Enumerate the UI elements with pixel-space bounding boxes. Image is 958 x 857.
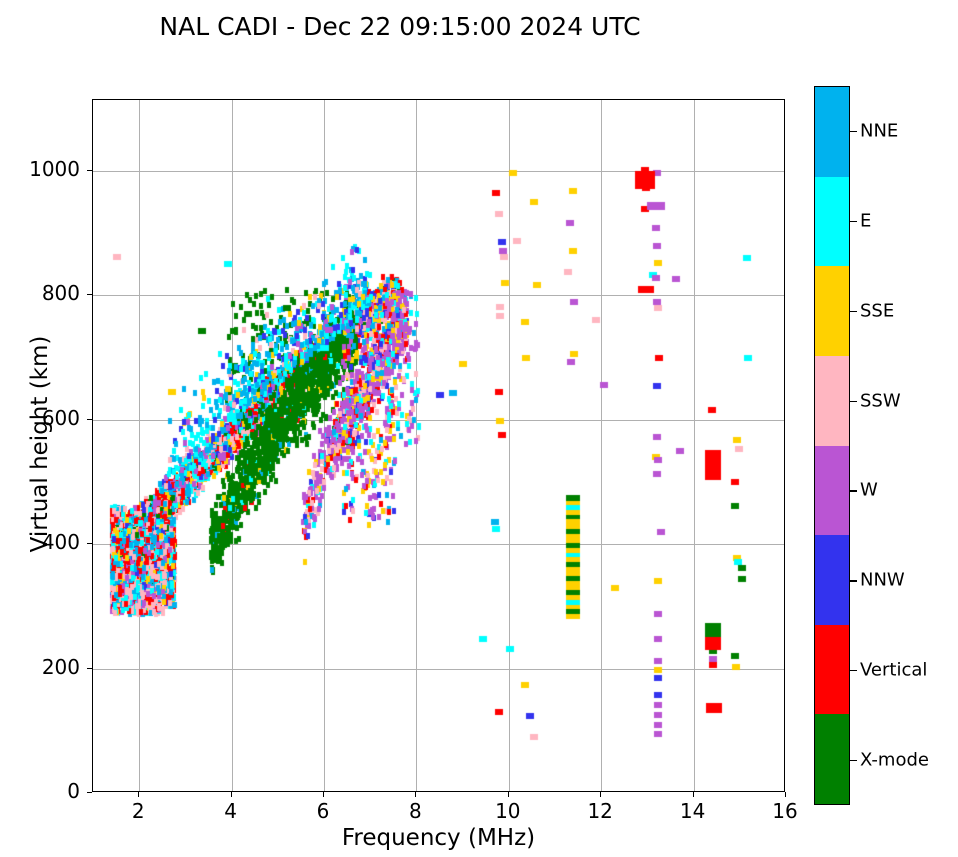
x-axis-tick [508,792,509,797]
colorbar-segment-vertical[interactable] [815,625,849,715]
x-axis-tick-label: 8 [385,799,445,823]
azimuth-colorbar[interactable] [814,86,850,805]
x-axis-tick [693,792,694,797]
colorbar-label-ssw: SSW [860,390,901,411]
colorbar-label-e: E [860,210,871,231]
y-axis-tick [87,294,92,295]
y-axis-tick-label: 0 [0,779,80,803]
y-axis-tick [87,668,92,669]
colorbar-label-w: W [860,480,878,501]
colorbar-tick [850,580,857,581]
colorbar-label-nnw: NNW [860,570,905,591]
colorbar-segment-x-mode[interactable] [815,714,849,804]
x-axis-tick-label: 12 [570,799,630,823]
colorbar-label-sse: SSE [860,300,894,321]
colorbar-label-nne: NNE [860,120,898,141]
y-axis-tick-label: 1000 [0,157,80,181]
data-points-layer [93,100,784,791]
colorbar-segment-ssw[interactable] [815,356,849,446]
x-axis-tick-label: 16 [755,799,815,823]
colorbar-segment-nne[interactable] [815,87,849,177]
x-axis-tick [231,792,232,797]
x-axis-tick [138,792,139,797]
colorbar-label-vertical: Vertical [860,660,927,681]
y-axis-tick [87,419,92,420]
ionogram-plot-area [92,99,785,792]
colorbar-segment-sse[interactable] [815,266,849,356]
chart-title: NAL CADI - Dec 22 09:15:00 2024 UTC [0,12,800,41]
x-axis-label: Frequency (MHz) [92,825,785,851]
x-axis-tick-label: 6 [293,799,353,823]
x-axis-tick-label: 4 [201,799,261,823]
colorbar-tick [850,131,857,132]
y-axis-label: Virtual height (km) [27,294,53,594]
x-axis-tick [323,792,324,797]
colorbar-segment-nnw[interactable] [815,535,849,625]
colorbar-segment-w[interactable] [815,446,849,536]
y-axis-tick [87,170,92,171]
colorbar-tick [850,221,857,222]
x-axis-tick [415,792,416,797]
colorbar-tick [850,490,857,491]
x-axis-tick-label: 14 [663,799,723,823]
colorbar-tick [850,311,857,312]
y-axis-tick [87,792,92,793]
y-axis-tick-label: 200 [0,655,80,679]
x-axis-tick-label: 2 [108,799,168,823]
colorbar-segment-e[interactable] [815,177,849,267]
colorbar-tick [850,760,857,761]
x-axis-tick [600,792,601,797]
colorbar-tick [850,670,857,671]
x-axis-tick-label: 10 [478,799,538,823]
colorbar-tick [850,401,857,402]
y-axis-tick [87,543,92,544]
colorbar-label-x-mode: X-mode [860,750,929,771]
x-axis-tick [785,792,786,797]
